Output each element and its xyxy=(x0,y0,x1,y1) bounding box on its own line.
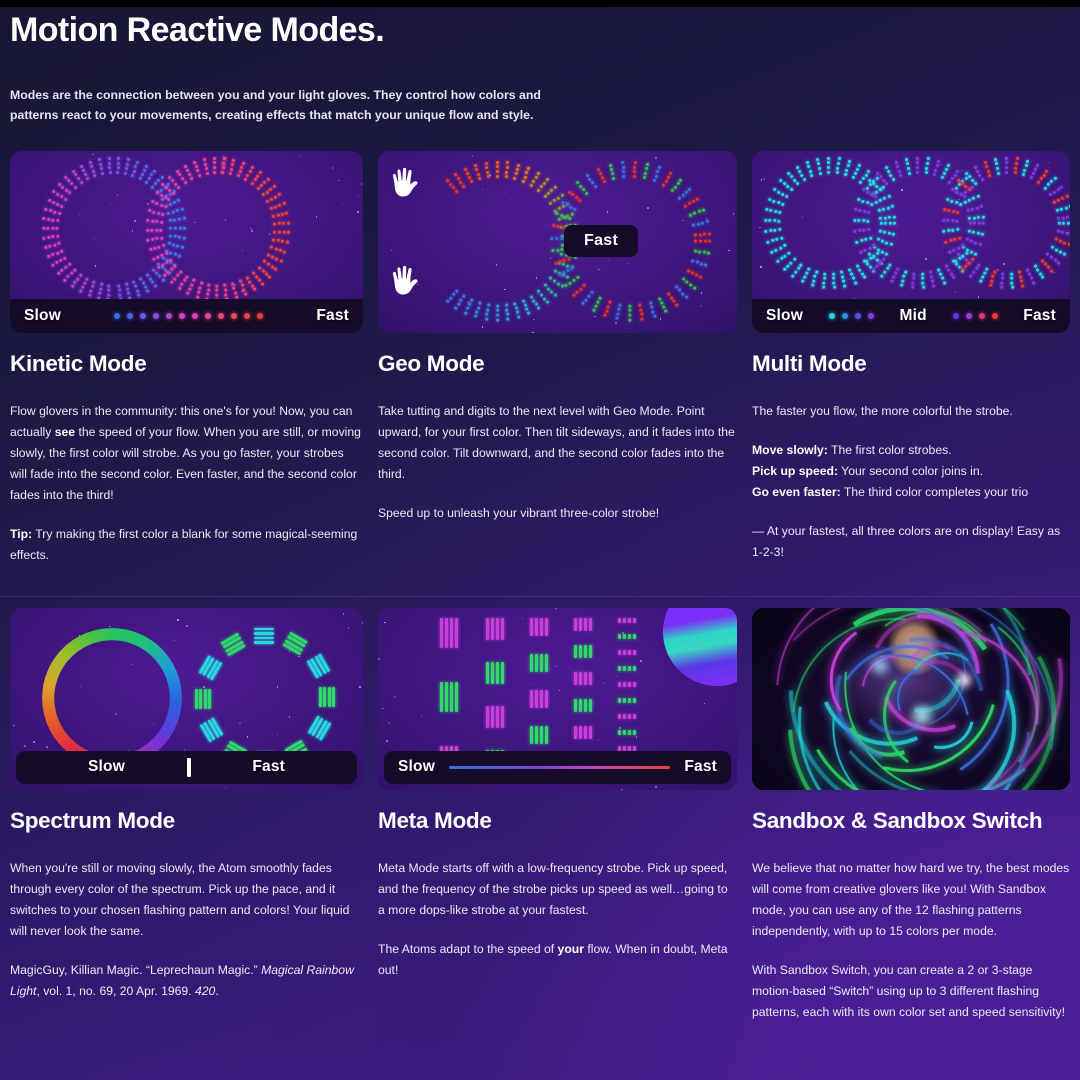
speed-label-slow: Slow xyxy=(766,307,803,325)
mode-title-sandbox: Sandbox & Sandbox Switch xyxy=(752,808,1070,834)
body-paragraph: Take tutting and digits to the next leve… xyxy=(378,401,737,485)
speed-dots-low xyxy=(829,313,874,319)
page-title: Motion Reactive Modes. xyxy=(10,11,1070,49)
speed-dot xyxy=(244,313,250,319)
speed-dot xyxy=(966,313,972,319)
row-divider xyxy=(0,596,1080,597)
body-paragraph: The Atoms adapt to the speed of your flo… xyxy=(378,939,737,981)
speed-label-slow: Slow xyxy=(398,758,435,776)
figure-kinetic: Slow Fast xyxy=(10,151,363,333)
body-paragraph: The faster you flow, the more colorful t… xyxy=(752,401,1070,422)
card-kinetic: Slow Fast Kinetic Mode Flow glovers in t… xyxy=(0,151,373,566)
page-root: Motion Reactive Modes. Modes are the con… xyxy=(0,0,1080,1080)
speed-dot xyxy=(842,313,848,319)
speed-label-fast: Fast xyxy=(684,758,717,776)
speed-label-mid: Mid xyxy=(899,307,926,325)
speed-dot xyxy=(868,313,874,319)
page-canvas: Motion Reactive Modes. Modes are the con… xyxy=(0,7,1080,1080)
card-sandbox: Sandbox & Sandbox Switch We believe that… xyxy=(747,608,1080,1023)
speed-tick xyxy=(187,758,191,777)
speed-label-fast: Fast xyxy=(252,758,285,776)
mode-title-kinetic: Kinetic Mode xyxy=(10,351,363,377)
body-paragraph: Flow glovers in the community: this one'… xyxy=(10,401,363,506)
open-hand-icon: 🖐 xyxy=(388,267,420,293)
card-geo: 🖐 🖐 Fast Geo Mode Take tutting and digit… xyxy=(373,151,747,566)
photo-glover xyxy=(752,608,1070,790)
mode-title-meta: Meta Mode xyxy=(378,808,737,834)
speed-dot xyxy=(257,313,263,319)
speed-dot xyxy=(179,313,185,319)
mode-body-spectrum: When you're still or moving slowly, the … xyxy=(10,858,363,1002)
body-paragraph: Meta Mode starts off with a low-frequenc… xyxy=(378,858,737,921)
speed-dot xyxy=(140,313,146,319)
modes-grid: Slow Fast Kinetic Mode Flow glovers in t… xyxy=(0,151,1080,1023)
card-multi: Slow Mid Fast Multi Mode The faster you … xyxy=(747,151,1080,566)
mode-body-sandbox: We believe that no matter how hard we tr… xyxy=(752,858,1070,1023)
badge-fast: Fast xyxy=(564,225,638,257)
body-paragraph: Move slowly: The first color strobes.Pic… xyxy=(752,440,1070,503)
top-black-bar xyxy=(0,0,1080,7)
modes-row-2: Slow Fast Spectrum Mode When you're stil… xyxy=(0,608,1080,1023)
speed-dot xyxy=(231,313,237,319)
speed-dot xyxy=(218,313,224,319)
speed-dot xyxy=(114,313,120,319)
mode-title-multi: Multi Mode xyxy=(752,351,1070,377)
speedbar-meta: Slow Fast xyxy=(384,751,731,784)
card-spectrum: Slow Fast Spectrum Mode When you're stil… xyxy=(0,608,373,1023)
page-header: Motion Reactive Modes. Modes are the con… xyxy=(0,7,1080,126)
figure-sandbox xyxy=(752,608,1070,790)
speed-dot xyxy=(153,313,159,319)
modes-row-1: Slow Fast Kinetic Mode Flow glovers in t… xyxy=(0,151,1080,566)
figure-spectrum: Slow Fast xyxy=(10,608,363,790)
body-paragraph: Tip: Try making the first color a blank … xyxy=(10,524,363,566)
speed-label-fast: Fast xyxy=(316,307,349,325)
figure-geo: 🖐 🖐 Fast xyxy=(378,151,737,333)
speed-dot xyxy=(953,313,959,319)
raised-hand-icon: 🖐 xyxy=(388,169,420,195)
figure-meta: Slow Fast xyxy=(378,608,737,790)
speedbar-spectrum: Slow Fast xyxy=(16,751,357,784)
mode-body-meta: Meta Mode starts off with a low-frequenc… xyxy=(378,858,737,981)
speed-gradient-bar xyxy=(449,766,670,769)
speed-label-fast: Fast xyxy=(1023,307,1056,325)
speedbar-multi: Slow Mid Fast xyxy=(752,299,1070,333)
body-paragraph: — At your fastest, all three colors are … xyxy=(752,521,1070,563)
speed-dot xyxy=(992,313,998,319)
speed-dot xyxy=(166,313,172,319)
speed-dot xyxy=(127,313,133,319)
body-paragraph: We believe that no matter how hard we tr… xyxy=(752,858,1070,942)
body-paragraph: With Sandbox Switch, you can create a 2 … xyxy=(752,960,1070,1023)
speed-dots-high xyxy=(953,313,998,319)
card-meta: Slow Fast Meta Mode Meta Mode starts off… xyxy=(373,608,747,1023)
speed-dot xyxy=(829,313,835,319)
mode-body-multi: The faster you flow, the more colorful t… xyxy=(752,401,1070,563)
body-paragraph: MagicGuy, Killian Magic. “Leprechaun Mag… xyxy=(10,960,363,1002)
mode-title-spectrum: Spectrum Mode xyxy=(10,808,363,834)
mode-title-geo: Geo Mode xyxy=(378,351,737,377)
speed-dot xyxy=(192,313,198,319)
speed-dot xyxy=(979,313,985,319)
speed-label-slow: Slow xyxy=(24,307,61,325)
led-rings-geo xyxy=(378,151,737,333)
figure-multi: Slow Mid Fast xyxy=(752,151,1070,333)
speed-dot xyxy=(855,313,861,319)
mode-body-kinetic: Flow glovers in the community: this one'… xyxy=(10,401,363,566)
speedbar-kinetic: Slow Fast xyxy=(10,299,363,333)
speed-dot xyxy=(205,313,211,319)
speed-label-slow: Slow xyxy=(88,758,125,776)
speed-dots xyxy=(114,313,263,319)
body-paragraph: Speed up to unleash your vibrant three-c… xyxy=(378,503,737,524)
body-paragraph: When you're still or moving slowly, the … xyxy=(10,858,363,942)
page-subtitle: Modes are the connection between you and… xyxy=(10,85,570,126)
mode-body-geo: Take tutting and digits to the next leve… xyxy=(378,401,737,524)
